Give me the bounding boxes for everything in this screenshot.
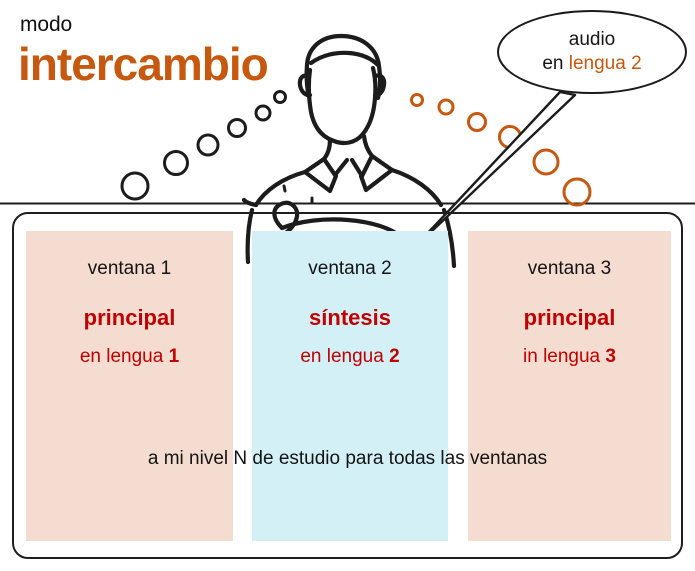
speech-bubble-line-2-prefix: en: [542, 53, 568, 74]
bubble-dark-3: [229, 120, 246, 137]
bubble-orange-5: [534, 150, 558, 174]
bubble-orange-1: [412, 95, 423, 106]
bubble-orange-6: [564, 179, 590, 205]
decorative-bubbles-left: [122, 92, 286, 200]
mode-kicker-label: modo: [20, 13, 72, 37]
column-block-ventana-2[interactable]: [252, 231, 448, 541]
bubble-orange-4: [500, 127, 521, 148]
column-block-ventana-1[interactable]: [26, 231, 233, 541]
bubble-orange-2: [439, 100, 453, 114]
slide-canvas: modo intercambio: [0, 0, 695, 571]
column-block-ventana-3[interactable]: [468, 231, 671, 541]
speech-bubble: audio en lengua 2: [497, 10, 687, 94]
speech-bubble-line-1: audio: [569, 28, 616, 52]
speech-bubble-line-2: en lengua 2: [542, 52, 641, 76]
bubble-dark-2: [256, 106, 270, 120]
speech-bubble-line-2-highlight: lengua 2: [569, 53, 642, 74]
decorative-bubbles-right: [412, 95, 591, 206]
bubble-orange-3: [469, 114, 486, 131]
bubble-dark-5: [165, 152, 188, 175]
bubble-dark-1: [275, 92, 286, 103]
bubble-dark-6: [122, 173, 148, 199]
page-title: intercambio: [18, 41, 268, 87]
bubble-dark-4: [198, 135, 218, 155]
